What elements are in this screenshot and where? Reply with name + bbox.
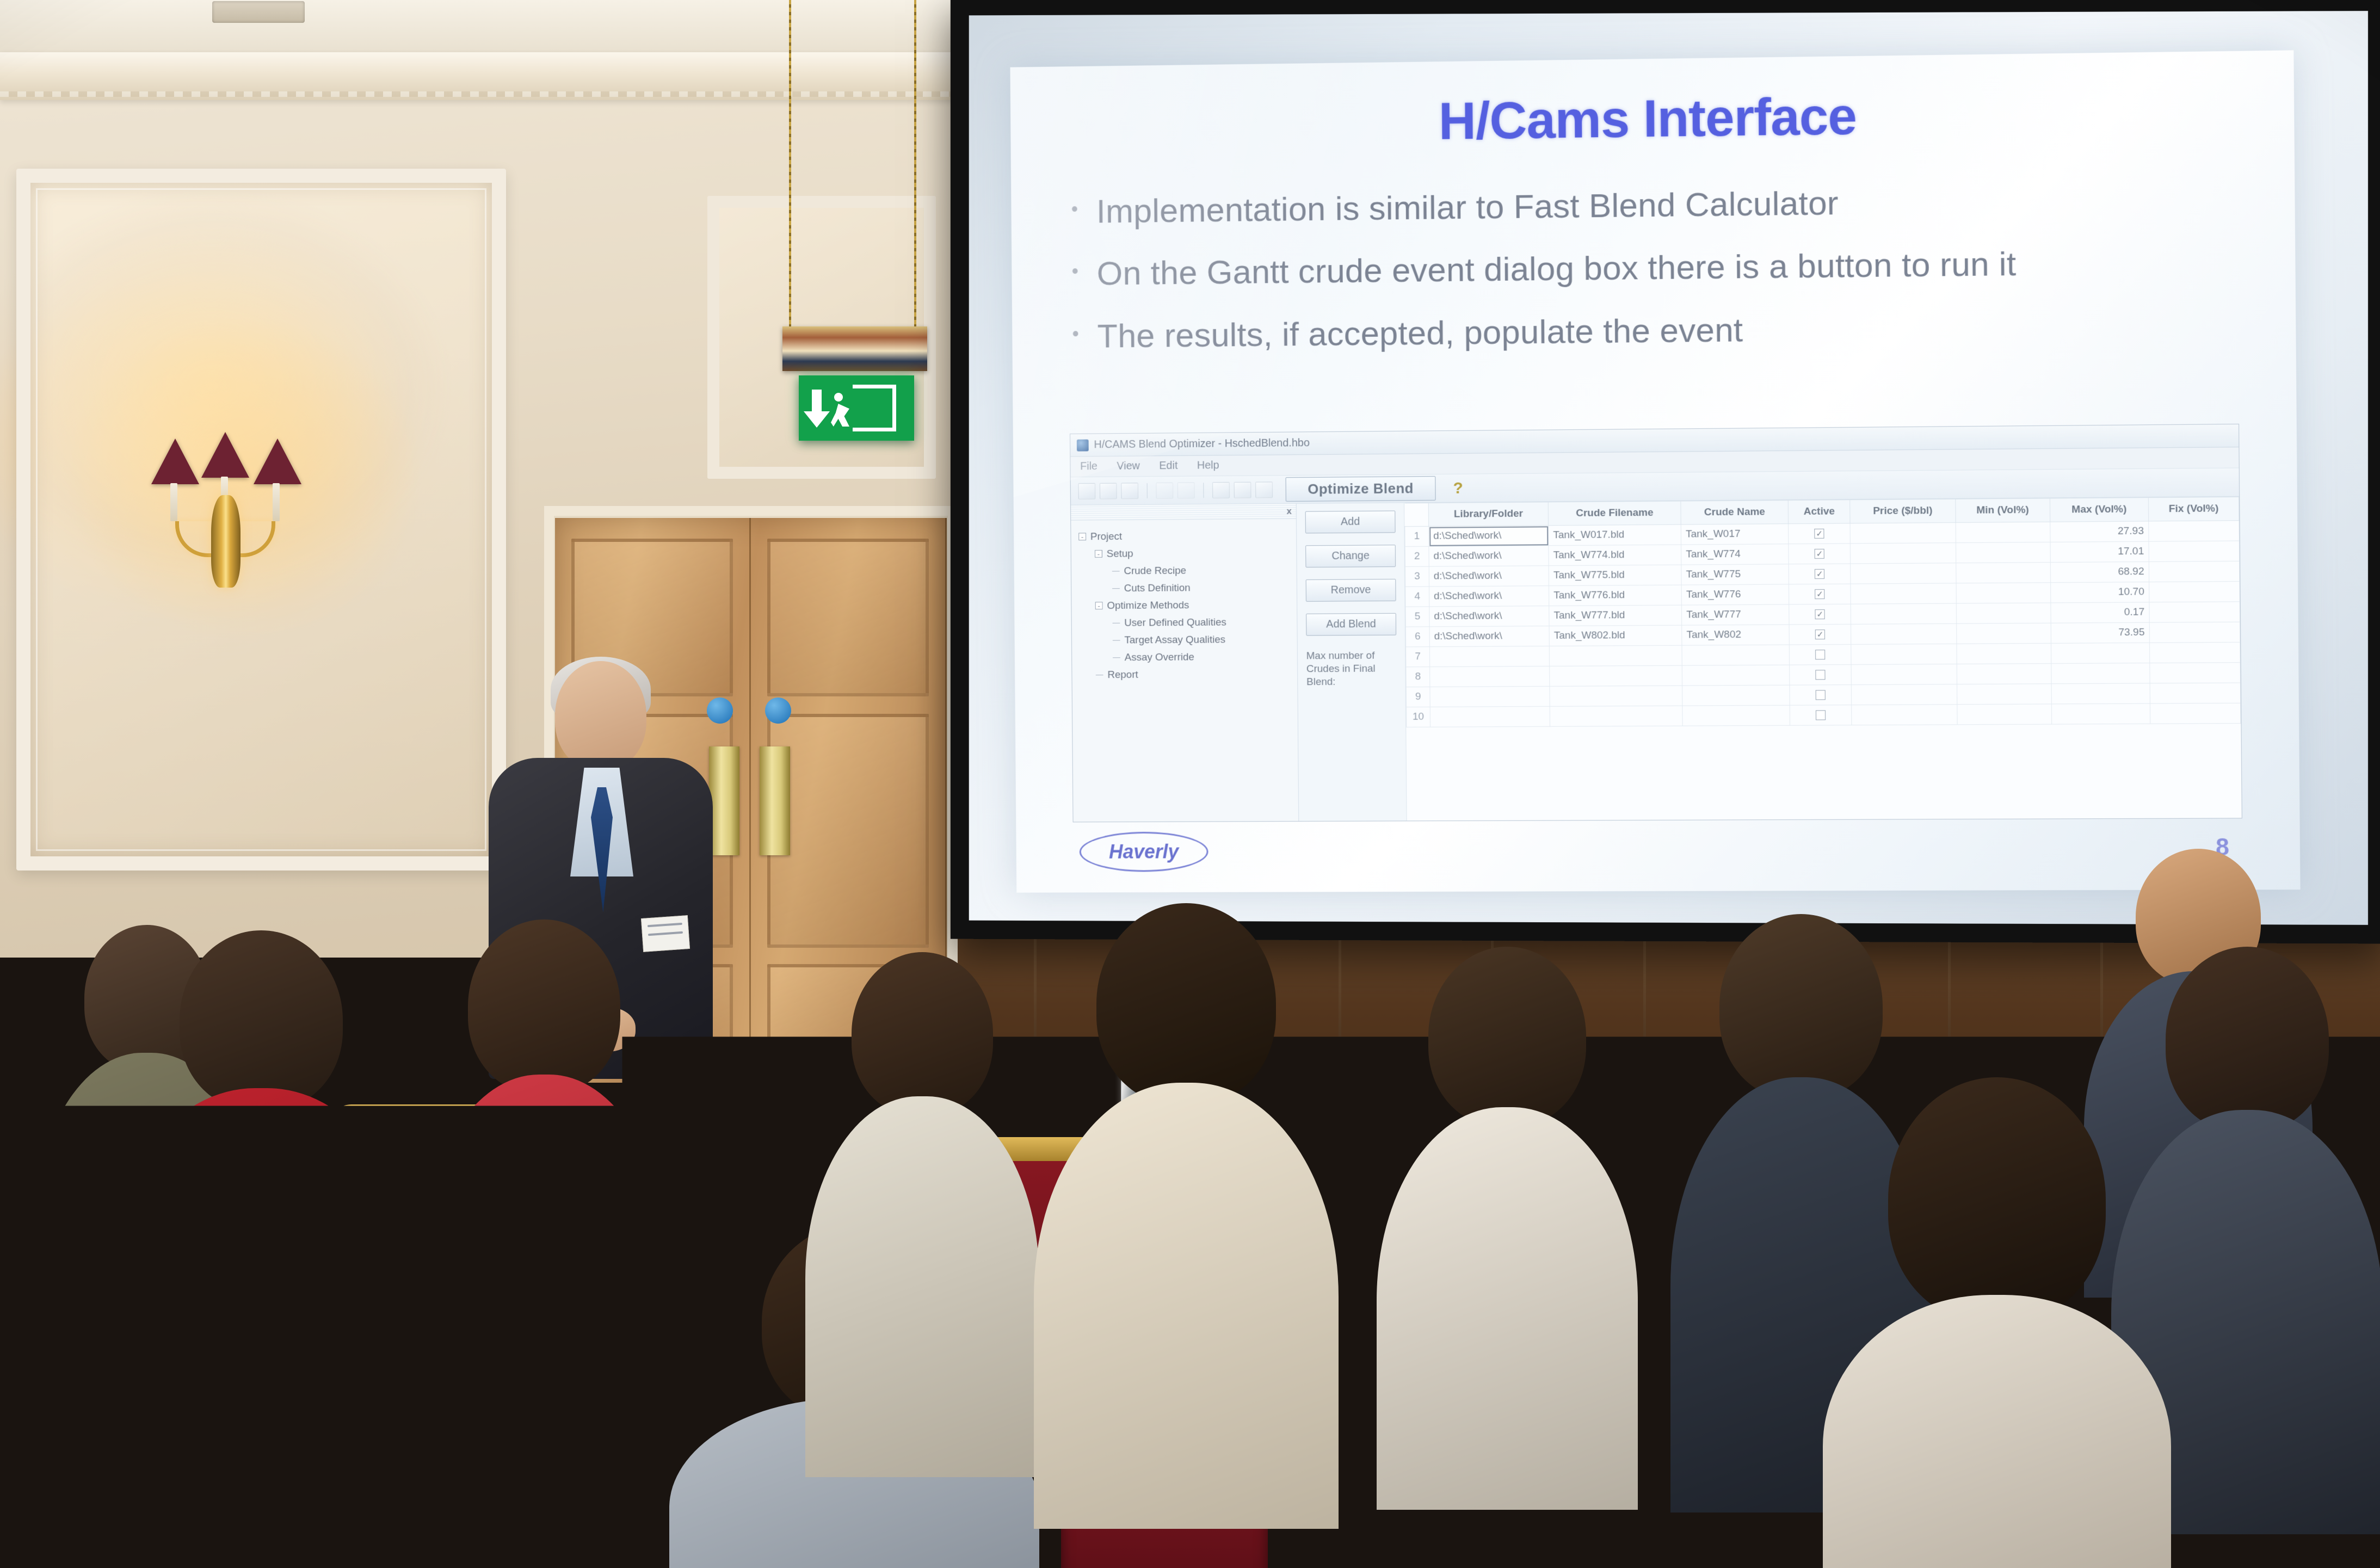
head: [1096, 903, 1276, 1104]
torso: [1823, 1295, 2171, 1568]
torso: [109, 1088, 414, 1491]
audience-member-11: [1823, 1077, 2171, 1568]
lamp-shade-right: [254, 439, 301, 484]
presenter-head: [555, 661, 646, 770]
head: [852, 952, 993, 1115]
audience-member-12: [626, 1295, 1039, 1568]
torso: [1034, 1083, 1339, 1529]
audience-member-6: [1034, 903, 1339, 1568]
chain-left: [789, 0, 791, 326]
head: [468, 919, 620, 1094]
head: [2166, 947, 2329, 1132]
chain-right: [914, 0, 916, 326]
head: [1888, 1077, 2106, 1322]
lamp-shade-centre: [201, 432, 249, 478]
audience-member-2: [109, 930, 414, 1568]
exit-sign-panel: [799, 375, 914, 441]
candle-right: [273, 483, 280, 521]
torso: [626, 1507, 1039, 1568]
screen-frame: [951, 0, 2380, 943]
blue-circle-sign-upper-right: [765, 697, 791, 724]
candle-left: [170, 483, 177, 521]
sconce-body: [211, 495, 241, 588]
head: [1719, 914, 1883, 1099]
ceiling-vent: [212, 1, 305, 23]
blue-circle-sign-lower-right: [773, 1160, 806, 1198]
hanging-exit-sign: [778, 0, 930, 468]
blue-circle-sign-lower-left: [693, 1160, 726, 1198]
head: [1428, 947, 1586, 1126]
lamp-shade-left: [151, 439, 199, 484]
running-man-icon: [853, 385, 896, 431]
head: [718, 1295, 947, 1529]
head: [180, 930, 343, 1110]
wall-sconce-light: [147, 419, 337, 593]
brass-push-plate-right[interactable]: [760, 746, 790, 855]
audience-member-7: [1377, 947, 1638, 1568]
conference-room-scene: H/Cams Interface • Implementation is sim…: [0, 0, 2380, 1568]
projection-screen: H/Cams Interface • Implementation is sim…: [951, 0, 2380, 943]
torso: [1377, 1107, 1638, 1510]
exit-sign-mount: [782, 326, 927, 371]
